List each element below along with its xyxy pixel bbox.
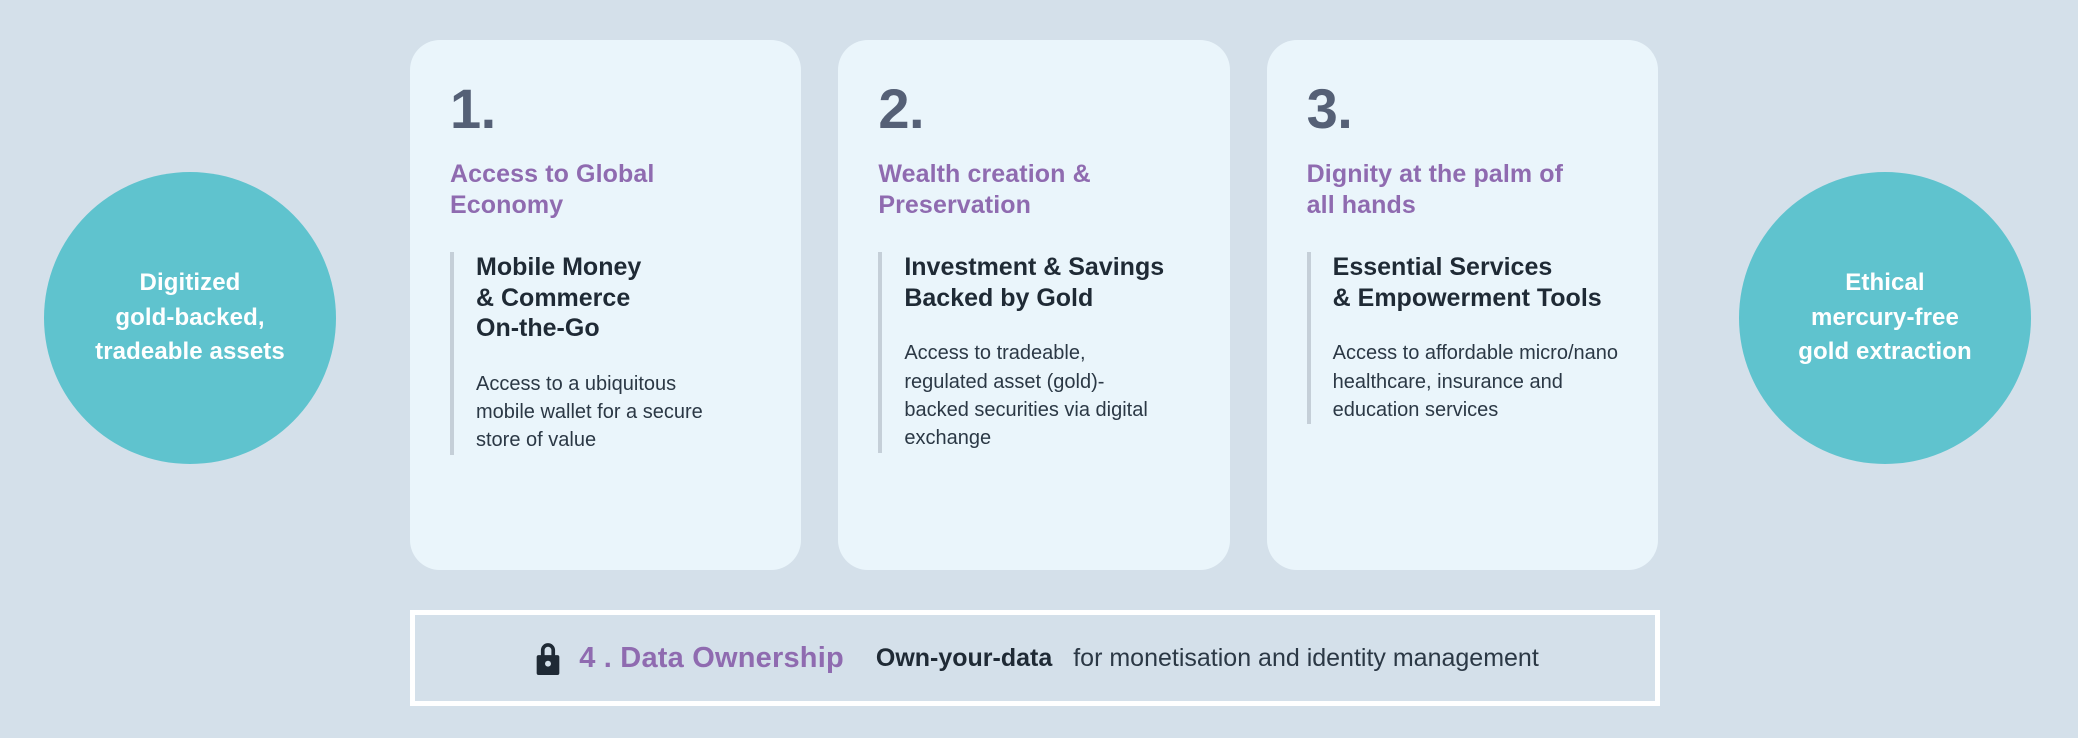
card-2-body: Investment & Savings Backed by Gold Acce… bbox=[878, 252, 1189, 453]
left-circle: Digitized gold-backed, tradeable assets bbox=[44, 172, 336, 464]
card-2-subtitle: Investment & Savings Backed by Gold bbox=[904, 252, 1189, 313]
card-1-title: Access to Global Economy bbox=[450, 159, 761, 220]
cards-row: 1. Access to Global Economy Mobile Money… bbox=[410, 40, 1658, 570]
card-2-number: 2. bbox=[878, 82, 1189, 135]
right-circle-label: Ethical mercury-free gold extraction bbox=[1772, 266, 1998, 370]
card-2-title: Wealth creation & Preservation bbox=[878, 159, 1189, 220]
card-3[interactable]: 3. Dignity at the palm of all hands Esse… bbox=[1267, 40, 1658, 570]
data-ownership-strong: Own-your-data bbox=[876, 644, 1052, 673]
card-3-description: Access to affordable micro/nano healthca… bbox=[1333, 339, 1618, 424]
card-2[interactable]: 2. Wealth creation & Preservation Invest… bbox=[838, 40, 1229, 570]
data-ownership-rest: for monetisation and identity management bbox=[1066, 644, 1539, 673]
card-1-subtitle: Mobile Money & Commerce On-the-Go bbox=[476, 252, 761, 344]
card-3-subtitle: Essential Services & Empowerment Tools bbox=[1333, 252, 1618, 313]
infographic-canvas: Digitized gold-backed, tradeable assets … bbox=[0, 0, 2078, 738]
lock-icon bbox=[531, 638, 565, 678]
card-3-title: Dignity at the palm of all hands bbox=[1307, 159, 1618, 220]
card-1[interactable]: 1. Access to Global Economy Mobile Money… bbox=[410, 40, 801, 570]
card-2-description: Access to tradeable, regulated asset (go… bbox=[904, 339, 1189, 453]
left-circle-label: Digitized gold-backed, tradeable assets bbox=[69, 266, 311, 370]
data-ownership-bar[interactable]: 4 . Data Ownership Own-your-data for mon… bbox=[410, 610, 1660, 706]
data-ownership-number: 4 . Data Ownership bbox=[579, 642, 844, 675]
card-1-number: 1. bbox=[450, 82, 761, 135]
card-1-description: Access to a ubiquitous mobile wallet for… bbox=[476, 370, 761, 455]
card-3-body: Essential Services & Empowerment Tools A… bbox=[1307, 252, 1618, 424]
card-3-number: 3. bbox=[1307, 82, 1618, 135]
right-circle: Ethical mercury-free gold extraction bbox=[1739, 172, 2031, 464]
card-1-body: Mobile Money & Commerce On-the-Go Access… bbox=[450, 252, 761, 455]
